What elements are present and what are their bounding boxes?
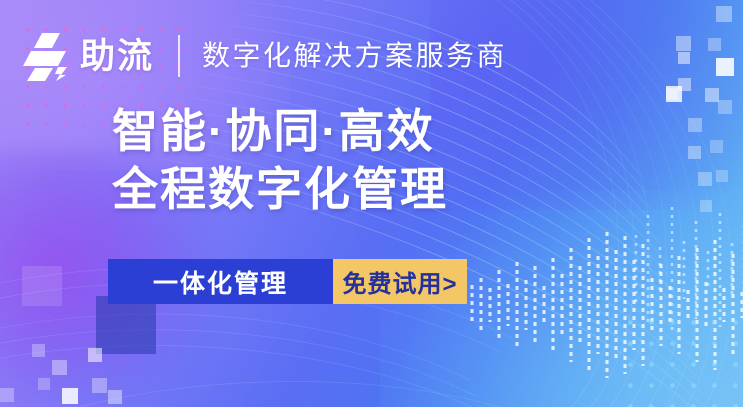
cyan-dot-grid	[620, 312, 743, 407]
headline-block: 智能·协同·高效 全程数字化管理	[112, 102, 448, 218]
integrated-management-button[interactable]: 一体化管理	[108, 259, 333, 304]
promotional-banner: 助流 数字化解决方案服务商 智能·协同·高效 全程数字化管理 一体化管理 免费试…	[0, 0, 743, 407]
brand-divider	[178, 35, 180, 77]
free-trial-button[interactable]: 免费试用>	[333, 259, 467, 304]
brand-name: 助流	[80, 39, 154, 74]
audio-waveform-bars-secondary-icon	[630, 195, 743, 345]
lightning-parallelogram-logo-icon[interactable]	[22, 31, 72, 81]
headline-line-1: 智能·协同·高效	[112, 102, 448, 160]
cta-group: 一体化管理 免费试用>	[108, 259, 467, 304]
audio-waveform-bars-icon	[466, 200, 743, 380]
brand-tagline: 数字化解决方案服务商	[202, 42, 507, 70]
brand-bar: 助流 数字化解决方案服务商	[22, 27, 507, 85]
headline-line-2: 全程数字化管理	[112, 160, 448, 218]
